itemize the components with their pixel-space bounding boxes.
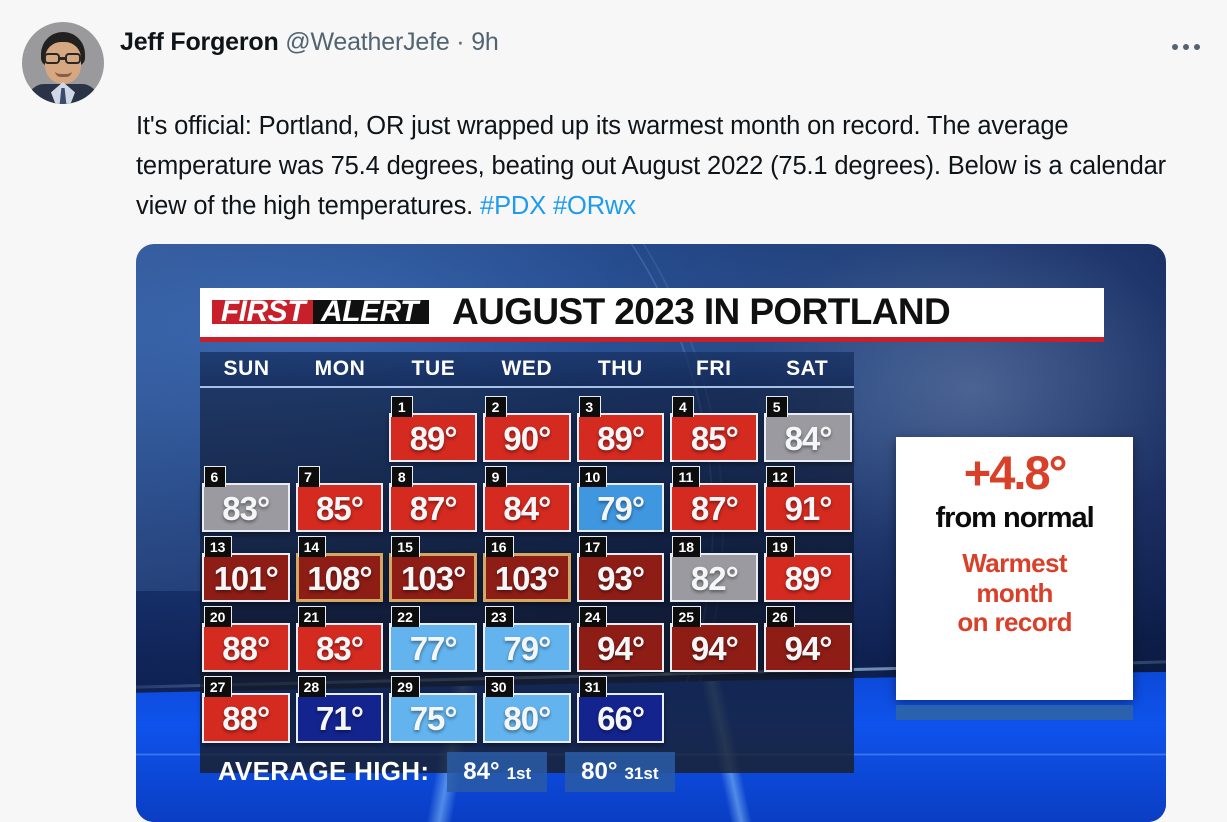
calendar-day-number: 30 bbox=[485, 676, 514, 697]
calendar-temp-box: 89° bbox=[577, 413, 665, 462]
calendar-temp-box: 103° bbox=[389, 553, 477, 602]
calendar-temp-value: 94° bbox=[597, 630, 644, 668]
calendar-day-number: 19 bbox=[766, 536, 795, 557]
calendar-cell: 683° bbox=[202, 466, 290, 534]
calendar-cell: 16103° bbox=[483, 536, 571, 604]
calendar-cell: 584° bbox=[764, 396, 852, 464]
calendar-temp-value: 101° bbox=[214, 560, 278, 598]
tweet-card: Jeff Forgeron @WeatherJefe · 9h It's off… bbox=[0, 0, 1227, 805]
calendar-day-number: 13 bbox=[204, 536, 233, 557]
calendar-temp-box: 75° bbox=[389, 693, 477, 742]
tweet-text: It's official: Portland, OR just wrapped… bbox=[136, 106, 1166, 226]
calendar-day-number: 29 bbox=[391, 676, 420, 697]
calendar-temp-box: 94° bbox=[764, 623, 852, 672]
anomaly-label: from normal bbox=[936, 502, 1094, 535]
calendar-temp-box: 82° bbox=[670, 553, 758, 602]
calendar-temp-value: 84° bbox=[503, 490, 550, 528]
calendar-temp-value: 91° bbox=[785, 490, 832, 528]
calendar-day-number: 12 bbox=[766, 466, 795, 487]
calendar-day-number: 14 bbox=[298, 536, 327, 557]
calendar-cell: 389° bbox=[577, 396, 665, 464]
calendar-cell: 1291° bbox=[764, 466, 852, 534]
average-high-bar: AVERAGE HIGH: 84° 1st 80° 31st bbox=[200, 749, 854, 795]
record-note-line1: Warmest bbox=[957, 549, 1072, 578]
calendar-cell: 3080° bbox=[483, 676, 571, 744]
calendar-temp-value: 85° bbox=[691, 420, 738, 458]
record-note: Warmest month on record bbox=[957, 549, 1072, 636]
calendar-temp-box: 80° bbox=[483, 693, 571, 742]
calendar-day-number: 9 bbox=[485, 466, 507, 487]
calendar-cell: 189° bbox=[389, 396, 477, 464]
calendar-temp-value: 89° bbox=[597, 420, 644, 458]
calendar-cell: 2494° bbox=[577, 606, 665, 674]
calendar-temp-box: 94° bbox=[670, 623, 758, 672]
calendar-cell: 2694° bbox=[764, 606, 852, 674]
calendar-cell: 2788° bbox=[202, 676, 290, 744]
calendar-temp-box: 79° bbox=[577, 483, 665, 532]
calendar-temp-box: 87° bbox=[670, 483, 758, 532]
calendar-cell: 1079° bbox=[577, 466, 665, 534]
logo-first-text: FIRST bbox=[212, 300, 313, 324]
calendar-cell: 2975° bbox=[389, 676, 477, 744]
calendar-cell: 290° bbox=[483, 396, 571, 464]
average-high-start-temp: 84° bbox=[463, 758, 499, 786]
calendar-cell: 3166° bbox=[577, 676, 665, 744]
calendar-day-number: 15 bbox=[391, 536, 420, 557]
calendar-day-number: 28 bbox=[298, 676, 327, 697]
calendar-day-number: 27 bbox=[204, 676, 233, 697]
tweet-body-text: It's official: Portland, OR just wrapped… bbox=[136, 112, 1166, 220]
calendar-temp-value: 90° bbox=[503, 420, 550, 458]
calendar-day-number: 1 bbox=[391, 396, 413, 417]
calendar-temp-box: 108° bbox=[296, 553, 384, 602]
timestamp[interactable]: 9h bbox=[471, 28, 498, 56]
calendar-cell: 1793° bbox=[577, 536, 665, 604]
calendar-day-number: 3 bbox=[579, 396, 601, 417]
calendar-temp-box: 89° bbox=[389, 413, 477, 462]
calendar-temp-value: 88° bbox=[222, 630, 269, 668]
calendar-day-number: 24 bbox=[579, 606, 608, 627]
display-name[interactable]: Jeff Forgeron bbox=[120, 28, 279, 56]
hashtag-orwx[interactable]: #ORwx bbox=[553, 192, 636, 220]
calendar-temp-box: 79° bbox=[483, 623, 571, 672]
weekday-wed: WED bbox=[480, 352, 573, 387]
calendar-temp-box: 88° bbox=[202, 693, 290, 742]
tweet-header: Jeff Forgeron @WeatherJefe · 9h bbox=[22, 18, 1205, 104]
calendar-temp-value: 94° bbox=[691, 630, 738, 668]
calendar-cell: 2277° bbox=[389, 606, 477, 674]
calendar-cell: 1187° bbox=[670, 466, 758, 534]
calendar-temp-value: 89° bbox=[785, 560, 832, 598]
calendar-day-number: 16 bbox=[485, 536, 514, 557]
calendar-day-number: 31 bbox=[579, 676, 608, 697]
average-high-end-chip: 80° 31st bbox=[565, 752, 674, 792]
anomaly-value: +4.8° bbox=[964, 449, 1066, 496]
calendar-temp-value: 75° bbox=[410, 700, 457, 738]
calendar-temp-box: 101° bbox=[202, 553, 290, 602]
calendar-day-number: 26 bbox=[766, 606, 795, 627]
calendar-day-number: 22 bbox=[391, 606, 420, 627]
calendar-temp-box: 85° bbox=[670, 413, 758, 462]
calendar-day-number: 8 bbox=[391, 466, 413, 487]
calendar-temp-value: 87° bbox=[691, 490, 738, 528]
calendar-temp-box: 85° bbox=[296, 483, 384, 532]
calendar-temp-value: 94° bbox=[785, 630, 832, 668]
calendar-temp-value: 79° bbox=[503, 630, 550, 668]
calendar-temp-value: 89° bbox=[410, 420, 457, 458]
weekday-mon: MON bbox=[293, 352, 386, 387]
calendar-temp-box: 66° bbox=[577, 693, 665, 742]
average-high-end-ordinal: 31st bbox=[624, 764, 658, 784]
calendar-temp-box: 103° bbox=[483, 553, 571, 602]
calendar-cell: 2183° bbox=[296, 606, 384, 674]
calendar-temp-box: 93° bbox=[577, 553, 665, 602]
calendar-day-number: 17 bbox=[579, 536, 608, 557]
calendar-temp-box: 84° bbox=[483, 483, 571, 532]
calendar-temp-box: 87° bbox=[389, 483, 477, 532]
calendar-temp-value: 80° bbox=[503, 700, 550, 738]
weekday-header-row: SUN MON TUE WED THU FRI SAT bbox=[200, 352, 854, 389]
calendar-temp-box: 71° bbox=[296, 693, 384, 742]
calendar-temp-value: 77° bbox=[410, 630, 457, 668]
average-high-start-ordinal: 1st bbox=[507, 764, 532, 784]
calendar-cell: 485° bbox=[670, 396, 758, 464]
calendar-cell: 2088° bbox=[202, 606, 290, 674]
calendar-temp-box: 91° bbox=[764, 483, 852, 532]
calendar-temp-box: 83° bbox=[202, 483, 290, 532]
weekday-sun: SUN bbox=[200, 352, 293, 387]
callout-accent-bar bbox=[896, 705, 1133, 720]
calendar-cell: 887° bbox=[389, 466, 477, 534]
weather-calendar-graphic[interactable]: FIRST ALERT AUGUST 2023 IN PORTLAND SUN … bbox=[136, 244, 1166, 822]
graphic-title: AUGUST 2023 IN PORTLAND bbox=[452, 291, 950, 333]
calendar-cell: 14108° bbox=[296, 536, 384, 604]
calendar-cell: 2379° bbox=[483, 606, 571, 674]
calendar-cell: 2594° bbox=[670, 606, 758, 674]
calendar-temp-value: 79° bbox=[597, 490, 644, 528]
calendar-temp-value: 85° bbox=[316, 490, 363, 528]
calendar-temp-value: 82° bbox=[691, 560, 738, 598]
average-high-label: AVERAGE HIGH: bbox=[218, 756, 429, 787]
average-high-end-temp: 80° bbox=[581, 758, 617, 786]
calendar-day-number: 20 bbox=[204, 606, 233, 627]
calendar-day-number: 6 bbox=[204, 466, 226, 487]
calendar-cell: 13101° bbox=[202, 536, 290, 604]
calendar-temp-box: 83° bbox=[296, 623, 384, 672]
calendar-temp-value: 93° bbox=[597, 560, 644, 598]
calendar-temp-value: 71° bbox=[316, 700, 363, 738]
calendar-temp-value: 83° bbox=[222, 490, 269, 528]
calendar-cell: 15103° bbox=[389, 536, 477, 604]
handle[interactable]: @WeatherJefe bbox=[285, 28, 449, 56]
record-note-line3: on record bbox=[957, 608, 1072, 637]
calendar-day-number: 21 bbox=[298, 606, 327, 627]
calendar-day-number: 7 bbox=[298, 466, 320, 487]
hashtag-pdx[interactable]: #PDX bbox=[480, 192, 546, 220]
calendar-cell: 984° bbox=[483, 466, 571, 534]
weekday-fri: FRI bbox=[667, 352, 760, 387]
calendar-temp-box: 88° bbox=[202, 623, 290, 672]
separator: · bbox=[456, 28, 464, 56]
calendar-temp-box: 94° bbox=[577, 623, 665, 672]
avatar[interactable] bbox=[22, 22, 104, 104]
calendar-cell: 1989° bbox=[764, 536, 852, 604]
calendar-temp-box: 90° bbox=[483, 413, 571, 462]
graphic-title-bar: FIRST ALERT AUGUST 2023 IN PORTLAND bbox=[200, 288, 1104, 342]
calendar-temp-box: 89° bbox=[764, 553, 852, 602]
calendar-temp-value: 108° bbox=[307, 560, 371, 598]
calendar-day-number: 2 bbox=[485, 396, 507, 417]
calendar-day-number: 10 bbox=[579, 466, 608, 487]
calendar-cell: 1882° bbox=[670, 536, 758, 604]
calendar-day-number: 4 bbox=[672, 396, 694, 417]
more-options-icon[interactable] bbox=[1167, 28, 1205, 66]
calendar-day-number: 23 bbox=[485, 606, 514, 627]
record-note-line2: month bbox=[957, 579, 1072, 608]
calendar-temp-box: 77° bbox=[389, 623, 477, 672]
calendar-temp-value: 103° bbox=[401, 560, 465, 598]
calendar-grid: 189°290°389°485°584°683°785°887°984°1079… bbox=[200, 392, 854, 745]
calendar-day-number: 18 bbox=[672, 536, 701, 557]
calendar-cell: 2871° bbox=[296, 676, 384, 744]
calendar-temp-value: 84° bbox=[785, 420, 832, 458]
calendar-temp-box: 84° bbox=[764, 413, 852, 462]
calendar-day-number: 11 bbox=[672, 466, 700, 487]
tweet-author-line: Jeff Forgeron @WeatherJefe · 9h bbox=[120, 18, 1167, 57]
calendar-temp-value: 66° bbox=[597, 700, 644, 738]
weekday-tue: TUE bbox=[387, 352, 480, 387]
average-high-start-chip: 84° 1st bbox=[447, 752, 547, 792]
calendar-day-number: 25 bbox=[672, 606, 701, 627]
calendar-day-number: 5 bbox=[766, 396, 788, 417]
weekday-thu: THU bbox=[574, 352, 667, 387]
calendar-temp-value: 87° bbox=[410, 490, 457, 528]
first-alert-logo: FIRST ALERT bbox=[209, 297, 432, 327]
logo-alert-text: ALERT bbox=[313, 300, 429, 324]
calendar-temp-value: 83° bbox=[316, 630, 363, 668]
weekday-sat: SAT bbox=[760, 352, 853, 387]
anomaly-callout: +4.8° from normal Warmest month on recor… bbox=[896, 437, 1133, 700]
calendar-temp-value: 103° bbox=[495, 560, 559, 598]
calendar-temp-value: 88° bbox=[222, 700, 269, 738]
calendar-cell: 785° bbox=[296, 466, 384, 534]
